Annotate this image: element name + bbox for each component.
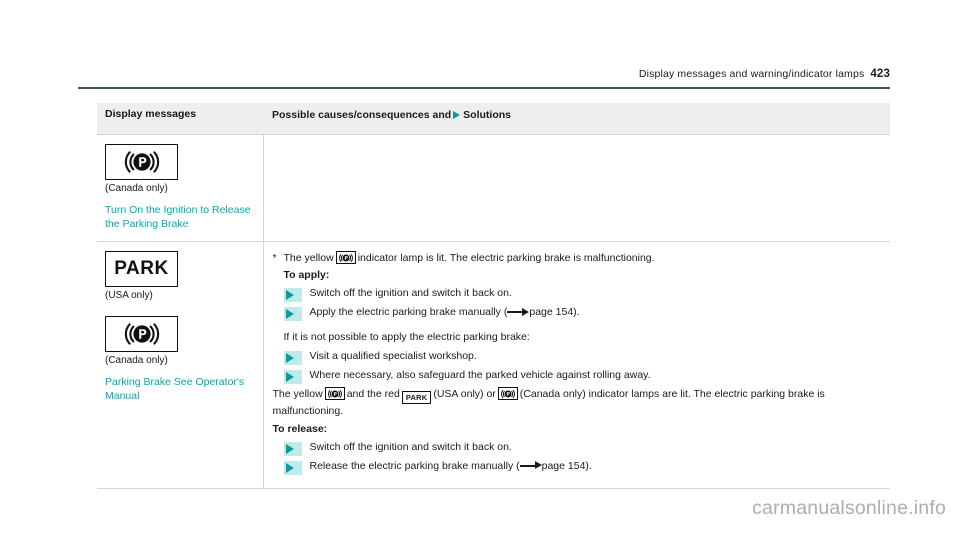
solution-text: Switch off the ignition and switch it ba… — [310, 286, 887, 301]
row1-display-message-text: Turn On the Ignition to Release the Park… — [105, 203, 263, 231]
solution-item: Release the electric parking brake manua… — [284, 459, 887, 475]
page-reference[interactable]: page 154 — [520, 460, 586, 472]
solution-text: Release the electric parking brake manua… — [310, 459, 887, 474]
multi-seg-3: (USA only) or — [433, 388, 495, 400]
column-header-causes-label: Possible causes/consequences and — [272, 109, 451, 121]
column-header-solutions: Possible causes/consequences andSolution… — [263, 103, 890, 135]
cause-star-line: * The yellowindicator lamp is lit. The e… — [273, 251, 887, 266]
solution-text: Switch off the ignition and switch it ba… — [310, 440, 887, 455]
display-messages-table: Display messages Possible causes/consequ… — [97, 103, 890, 489]
page-reference-label: page 154 — [529, 306, 573, 318]
solution-item: Visit a qualified specialist workshop. — [284, 349, 887, 365]
row2-causes-cell: * The yellowindicator lamp is lit. The e… — [263, 241, 890, 488]
column-header-display-messages: Display messages — [97, 103, 263, 135]
multi-seg-2: and the red — [347, 388, 400, 400]
park-lamp-icon: PARK — [105, 251, 178, 287]
solution-triangle-icon — [284, 307, 302, 321]
solution-item: Apply the electric parking brake manuall… — [284, 305, 887, 321]
parking-brake-lamp-icon — [105, 316, 178, 352]
cause-multi-chip-line: The yellowand the redPARK(USA only) or(C… — [273, 387, 887, 419]
cause-text-before: The yellow — [284, 252, 334, 264]
page-number: 423 — [870, 68, 890, 80]
header-rule — [78, 87, 890, 89]
park-lamp-label: PARK — [114, 258, 168, 280]
solution-triangle-icon — [284, 288, 302, 302]
solution-text: Apply the electric parking brake manuall… — [310, 305, 887, 320]
solution-item: Where necessary, also safeguard the park… — [284, 368, 887, 384]
column-header-solutions-label: Solutions — [463, 109, 511, 121]
solution-triangle-icon — [284, 442, 302, 456]
cause-plain-line: If it is not possible to apply the elect… — [284, 330, 887, 345]
arrow-right-icon — [507, 307, 529, 316]
to-release-heading: To release: — [273, 422, 887, 437]
cause-text-after: indicator lamp is lit. The electric park… — [358, 252, 655, 264]
row2-variant-note-canada: (Canada only) — [105, 355, 263, 368]
solution-item: Switch off the ignition and switch it ba… — [284, 286, 887, 302]
park-chip-icon: PARK — [402, 391, 432, 404]
parking-brake-chip-icon — [498, 387, 518, 400]
running-head: Display messages and warning/indicator l… — [78, 68, 890, 80]
asterisk-marker: * — [273, 251, 284, 266]
page-reference-label: page 154 — [542, 460, 586, 472]
multi-seg-1: The yellow — [273, 388, 323, 400]
solution-text-before: Apply the electric parking brake manuall… — [310, 306, 508, 318]
table-row: PARK (USA only) (Canada only) Parking Br… — [97, 241, 890, 488]
row1-display-message-cell: (Canada only) Turn On the Ignition to Re… — [97, 135, 263, 242]
solution-triangle-icon — [284, 370, 302, 384]
solution-item: Switch off the ignition and switch it ba… — [284, 440, 887, 456]
solution-text-before: Release the electric parking brake manua… — [310, 460, 520, 472]
table-row: (Canada only) Turn On the Ignition to Re… — [97, 135, 890, 242]
table-header-row: Display messages Possible causes/consequ… — [97, 103, 890, 135]
to-apply-heading: To apply: — [284, 268, 887, 283]
solutions-triangle-icon — [453, 111, 460, 119]
solution-triangle-icon — [284, 351, 302, 365]
solution-text: Visit a qualified specialist workshop. — [310, 349, 887, 364]
row2-display-message-cell: PARK (USA only) (Canada only) Parking Br… — [97, 241, 263, 488]
row1-causes-cell — [263, 135, 890, 242]
solution-text: Where necessary, also safeguard the park… — [310, 368, 887, 383]
row2-variant-note-usa: (USA only) — [105, 290, 263, 303]
row1-variant-note: (Canada only) — [105, 183, 263, 196]
parking-brake-chip-icon — [325, 387, 345, 400]
solution-text-after: ). — [573, 306, 579, 318]
parking-brake-lamp-icon — [105, 144, 178, 180]
page-reference[interactable]: page 154 — [507, 306, 573, 318]
solution-triangle-icon — [284, 461, 302, 475]
cause-star-text: The yellowindicator lamp is lit. The ele… — [284, 251, 887, 266]
parking-brake-chip-icon — [336, 251, 356, 264]
row2-display-message-text: Parking Brake See Operator's Manual — [105, 375, 263, 403]
arrow-right-icon — [520, 461, 542, 470]
site-watermark: carmanualsonline.info — [0, 497, 946, 520]
solution-text-after: ). — [585, 460, 591, 472]
running-head-title: Display messages and warning/indicator l… — [639, 68, 864, 80]
